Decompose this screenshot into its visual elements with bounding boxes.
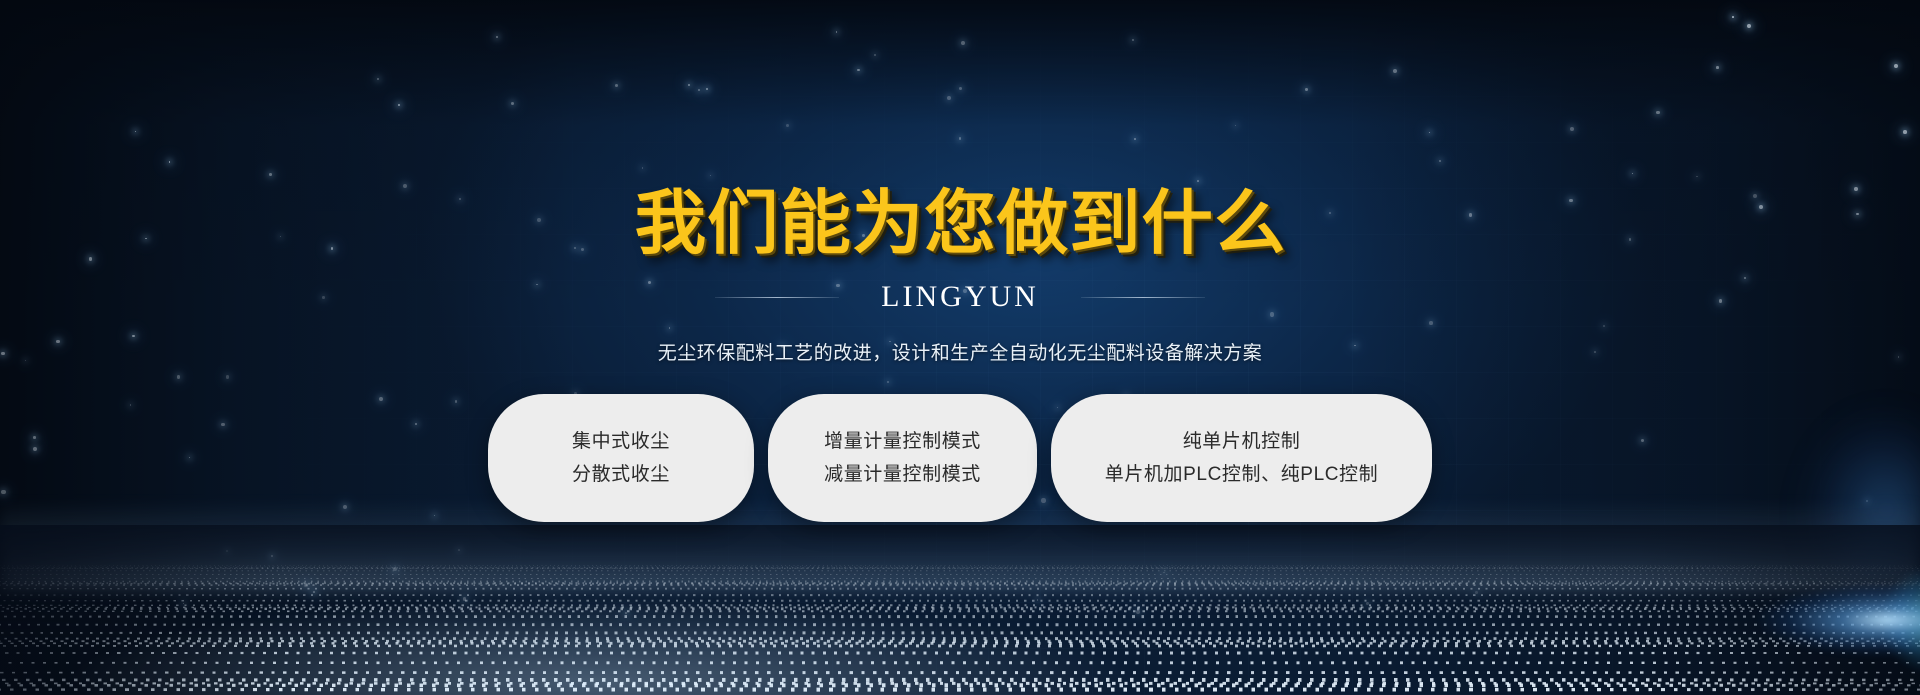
banner-description: 无尘环保配料工艺的改进，设计和生产全自动化无尘配料设备解决方案 — [658, 338, 1263, 365]
card-line: 单片机加PLC控制、纯PLC控制 — [1105, 465, 1379, 484]
card-line: 减量计量控制模式 — [824, 465, 981, 484]
divider-right-icon — [1081, 297, 1205, 298]
banner-content: 我们能为您做到什么 LINGYUN 无尘环保配料工艺的改进，设计和生产全自动化无… — [0, 0, 1920, 695]
card-line: 增量计量控制模式 — [824, 432, 981, 451]
brand-name: LINGYUN — [881, 280, 1039, 314]
card-line: 纯单片机控制 — [1183, 432, 1301, 451]
card-line: 集中式收尘 — [572, 432, 670, 451]
feature-card-dust-collection[interactable]: 集中式收尘 分散式收尘 — [488, 394, 754, 522]
feature-card-metering-mode[interactable]: 增量计量控制模式 减量计量控制模式 — [768, 394, 1037, 522]
feature-card-control-system[interactable]: 纯单片机控制 单片机加PLC控制、纯PLC控制 — [1051, 394, 1432, 522]
brand-divider-row: LINGYUN — [715, 280, 1205, 314]
page-title: 我们能为您做到什么 — [634, 188, 1286, 258]
feature-card-list: 集中式收尘 分散式收尘 增量计量控制模式 减量计量控制模式 纯单片机控制 单片机… — [488, 394, 1432, 522]
hero-banner: 我们能为您做到什么 LINGYUN 无尘环保配料工艺的改进，设计和生产全自动化无… — [0, 0, 1920, 695]
divider-left-icon — [715, 297, 839, 298]
card-line: 分散式收尘 — [572, 465, 670, 484]
